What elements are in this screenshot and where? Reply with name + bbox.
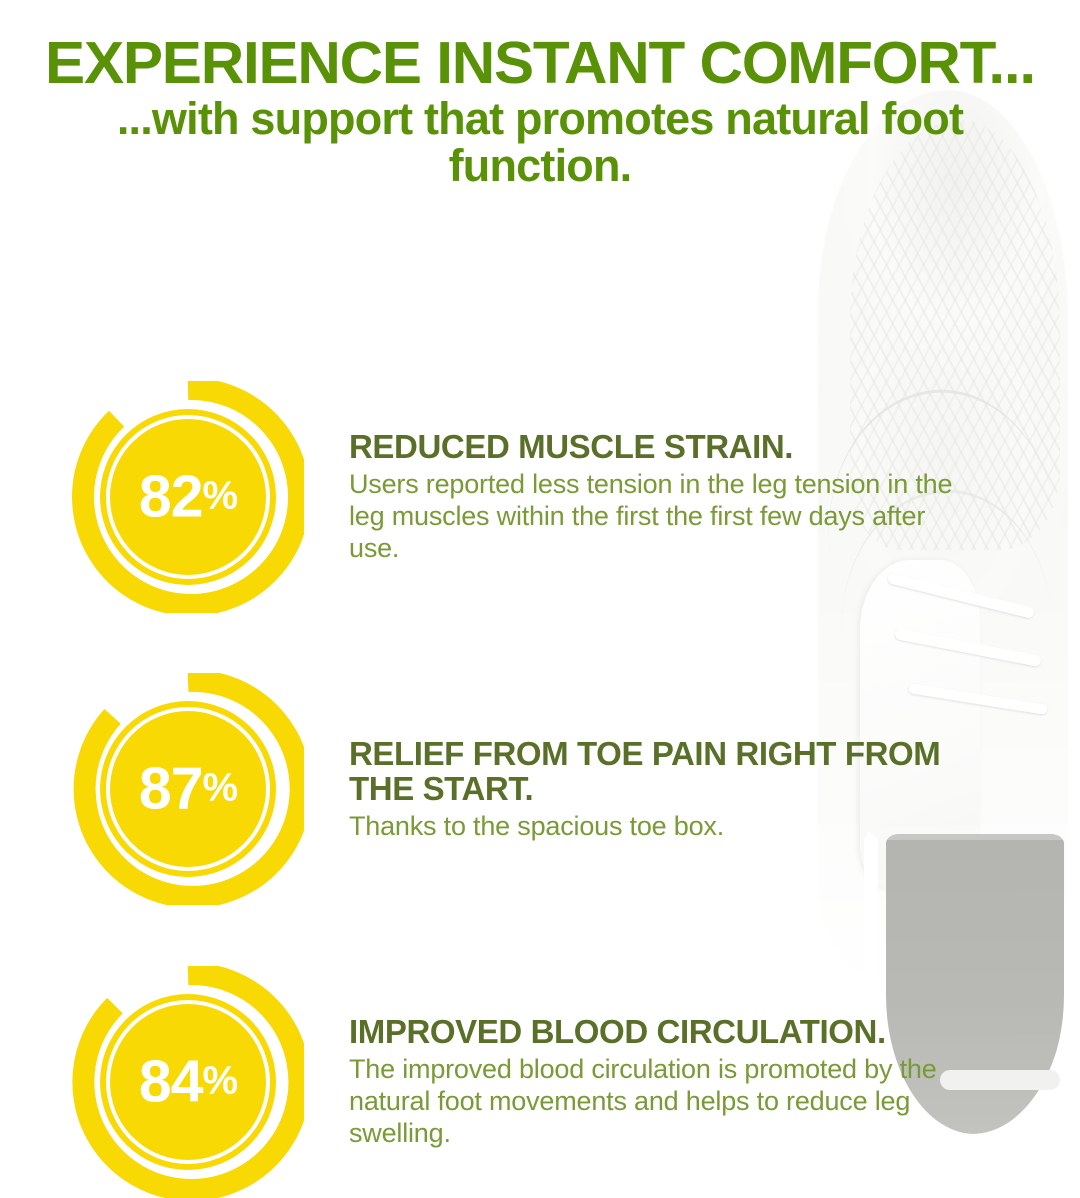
gauge-number: 87 [139, 756, 203, 822]
gauge-value-label: 87% [72, 760, 304, 819]
gauge-value-label: 84% [72, 1053, 304, 1112]
gauge-value-label: 82% [72, 468, 304, 527]
gauge-percent-symbol: % [203, 474, 238, 518]
headline-block: EXPERIENCE INSTANT COMFORT... ...with su… [0, 0, 1080, 189]
stat-heading: IMPROVED BLOOD CIRCULATION. [349, 1015, 979, 1050]
headline-primary: EXPERIENCE INSTANT COMFORT... [0, 34, 1080, 92]
stat-text-block: IMPROVED BLOOD CIRCULATION. The improved… [349, 1015, 979, 1149]
stat-text-block: RELIEF FROM TOE PAIN RIGHT FROM THE STAR… [349, 737, 979, 842]
stat-row: 87% RELIEF FROM TOE PAIN RIGHT FROM THE … [0, 673, 1080, 905]
percent-gauge: 82% [72, 381, 304, 613]
percent-gauge: 87% [72, 673, 304, 905]
gauge-number: 84 [139, 1049, 203, 1115]
stat-body: The improved blood circulation is promot… [349, 1053, 979, 1149]
shoe-lace-middle [894, 628, 1041, 667]
stat-row: 84% IMPROVED BLOOD CIRCULATION. The impr… [0, 966, 1080, 1198]
stat-heading: REDUCED MUSCLE STRAIN. [349, 430, 979, 465]
stat-body: Users reported less tension in the leg t… [349, 468, 979, 564]
stat-text-block: REDUCED MUSCLE STRAIN. Users reported le… [349, 430, 979, 564]
headline-secondary: ...with support that promotes natural fo… [0, 96, 1080, 189]
stat-row: 82% REDUCED MUSCLE STRAIN. Users reporte… [0, 381, 1080, 613]
gauge-number: 82 [139, 464, 203, 530]
stat-body: Thanks to the spacious toe box. [349, 810, 979, 842]
percent-gauge: 84% [72, 966, 304, 1198]
gauge-percent-symbol: % [203, 1059, 238, 1103]
stat-heading: RELIEF FROM TOE PAIN RIGHT FROM THE STAR… [349, 737, 979, 807]
gauge-percent-symbol: % [203, 766, 238, 810]
